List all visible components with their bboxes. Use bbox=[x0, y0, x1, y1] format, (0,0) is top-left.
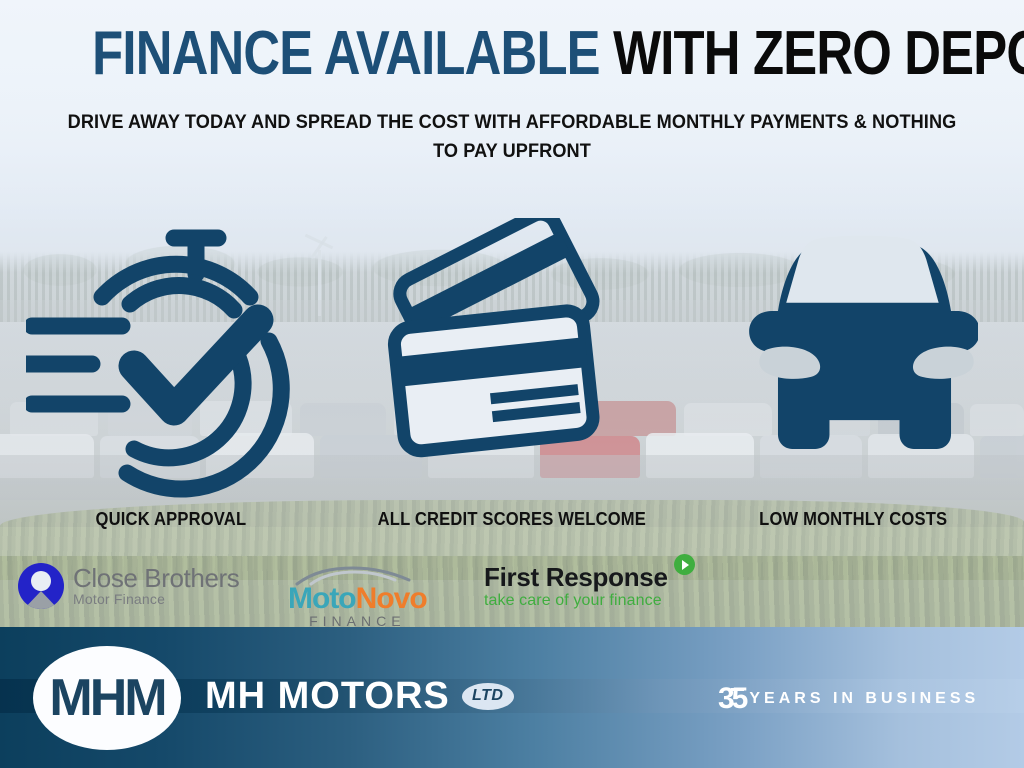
header: FINANCE AVAILABLE WITH ZERO DEPOSIT DRIV… bbox=[0, 0, 1024, 180]
finance-promo-poster: FINANCE AVAILABLE WITH ZERO DEPOSIT DRIV… bbox=[0, 0, 1024, 768]
company-name-block: MH MOTORS LTD bbox=[205, 676, 514, 716]
feature-all-credit-scores: ALL CREDIT SCORES WELCOME bbox=[341, 190, 682, 530]
years-number: 35 bbox=[718, 684, 745, 714]
feature-low-monthly-costs: LOW MONTHLY COSTS bbox=[683, 190, 1024, 530]
car-front-icon bbox=[728, 218, 978, 503]
feature-quick-approval: QUICK APPROVAL bbox=[0, 190, 341, 530]
partner-name: MotoNovo bbox=[288, 584, 427, 614]
headline-black-part: WITH ZERO DEPOSIT bbox=[613, 19, 1024, 88]
partner-name: Close Brothers bbox=[73, 566, 239, 591]
years-in-business-block: 35 YEARS IN BUSINESS bbox=[718, 684, 979, 714]
finance-partner-logos: Close Brothers Motor Finance MotoNovo FI… bbox=[0, 555, 1024, 627]
credit-cards-icon bbox=[377, 218, 647, 503]
motonovo-car-icon bbox=[293, 565, 421, 587]
ltd-badge-text: LTD bbox=[472, 687, 503, 705]
years-label: YEARS IN BUSINESS bbox=[749, 688, 979, 710]
stopwatch-check-icon bbox=[26, 218, 316, 503]
close-brothers-logo-icon bbox=[18, 563, 64, 609]
partner-close-brothers: Close Brothers Motor Finance bbox=[18, 563, 239, 609]
feature-label: QUICK APPROVAL bbox=[95, 509, 246, 530]
headline-blue-part: FINANCE AVAILABLE bbox=[92, 19, 600, 88]
first-response-heading: First Response bbox=[484, 563, 695, 591]
partner-first-response: First Response take care of your finance bbox=[484, 563, 695, 610]
feature-label: ALL CREDIT SCORES WELCOME bbox=[378, 509, 646, 530]
company-name: MH MOTORS bbox=[205, 676, 450, 716]
partner-subtitle: Motor Finance bbox=[73, 591, 239, 607]
page-title: FINANCE AVAILABLE WITH ZERO DEPOSIT bbox=[92, 24, 932, 84]
partner-subtitle: take care of your finance bbox=[484, 591, 662, 610]
play-circle-icon bbox=[674, 554, 695, 575]
partner-name: First Response bbox=[484, 563, 668, 591]
feature-list: QUICK APPROVAL ALL CREDIT SCO bbox=[0, 190, 1024, 530]
partner-motonovo: MotoNovo FINANCE bbox=[288, 565, 427, 629]
feature-label: LOW MONTHLY COSTS bbox=[759, 509, 947, 530]
mhm-logo-text: MHM bbox=[49, 672, 164, 724]
ltd-badge: LTD bbox=[462, 683, 514, 710]
subheadline: DRIVE AWAY TODAY AND SPREAD THE COST WIT… bbox=[58, 108, 966, 166]
mhm-logo: MHM bbox=[33, 646, 181, 750]
